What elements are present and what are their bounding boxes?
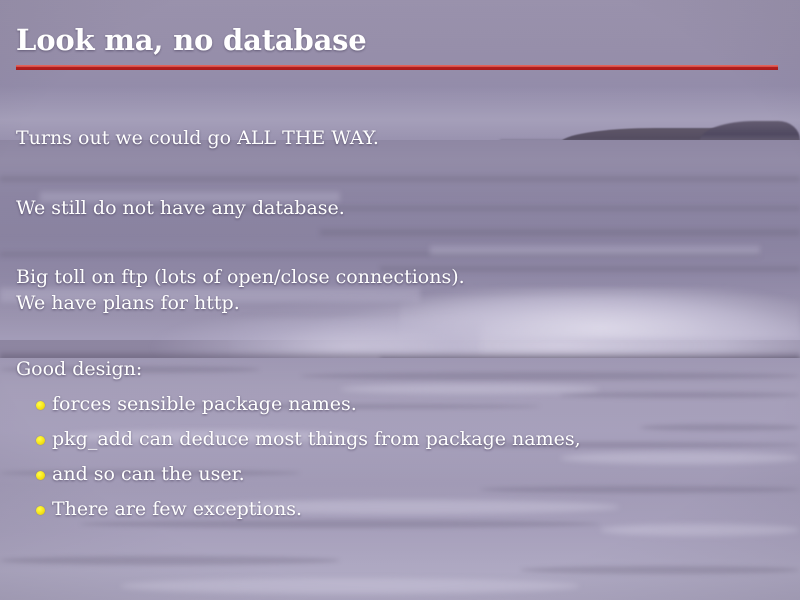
spacer <box>16 150 786 197</box>
body-line-2: We still do not have any database. <box>16 197 786 220</box>
spacer <box>16 220 786 266</box>
bullet-dot-icon <box>36 401 45 410</box>
list-item: and so can the user. <box>16 457 786 492</box>
body-line-4: We have plans for http. <box>16 289 786 317</box>
list-item-label: There are few exceptions. <box>52 498 302 520</box>
list-item-label: pkg_add can deduce most things from pack… <box>52 428 581 450</box>
body-line-1: Turns out we could go ALL THE WAY. <box>16 127 786 150</box>
body-line-5: Good design: <box>16 358 786 381</box>
slide-body: Turns out we could go ALL THE WAY. We st… <box>16 127 786 527</box>
bullet-dot-icon <box>36 436 45 445</box>
bullet-list: forces sensible package names. pkg_add c… <box>16 387 786 527</box>
list-item: forces sensible package names. <box>16 387 786 422</box>
title-underline-rule <box>16 65 778 70</box>
list-item: There are few exceptions. <box>16 492 786 527</box>
list-item-label: and so can the user. <box>52 463 245 485</box>
list-item-label: forces sensible package names. <box>52 393 357 415</box>
presentation-slide: Look ma, no database Turns out we could … <box>0 0 800 600</box>
bullet-dot-icon <box>36 471 45 480</box>
bullet-dot-icon <box>36 506 45 515</box>
list-item: pkg_add can deduce most things from pack… <box>16 422 786 457</box>
slide-content: Look ma, no database Turns out we could … <box>0 0 800 600</box>
slide-title: Look ma, no database <box>16 23 367 57</box>
spacer <box>16 317 786 358</box>
body-line-3: Big toll on ftp (lots of open/close conn… <box>16 266 786 289</box>
